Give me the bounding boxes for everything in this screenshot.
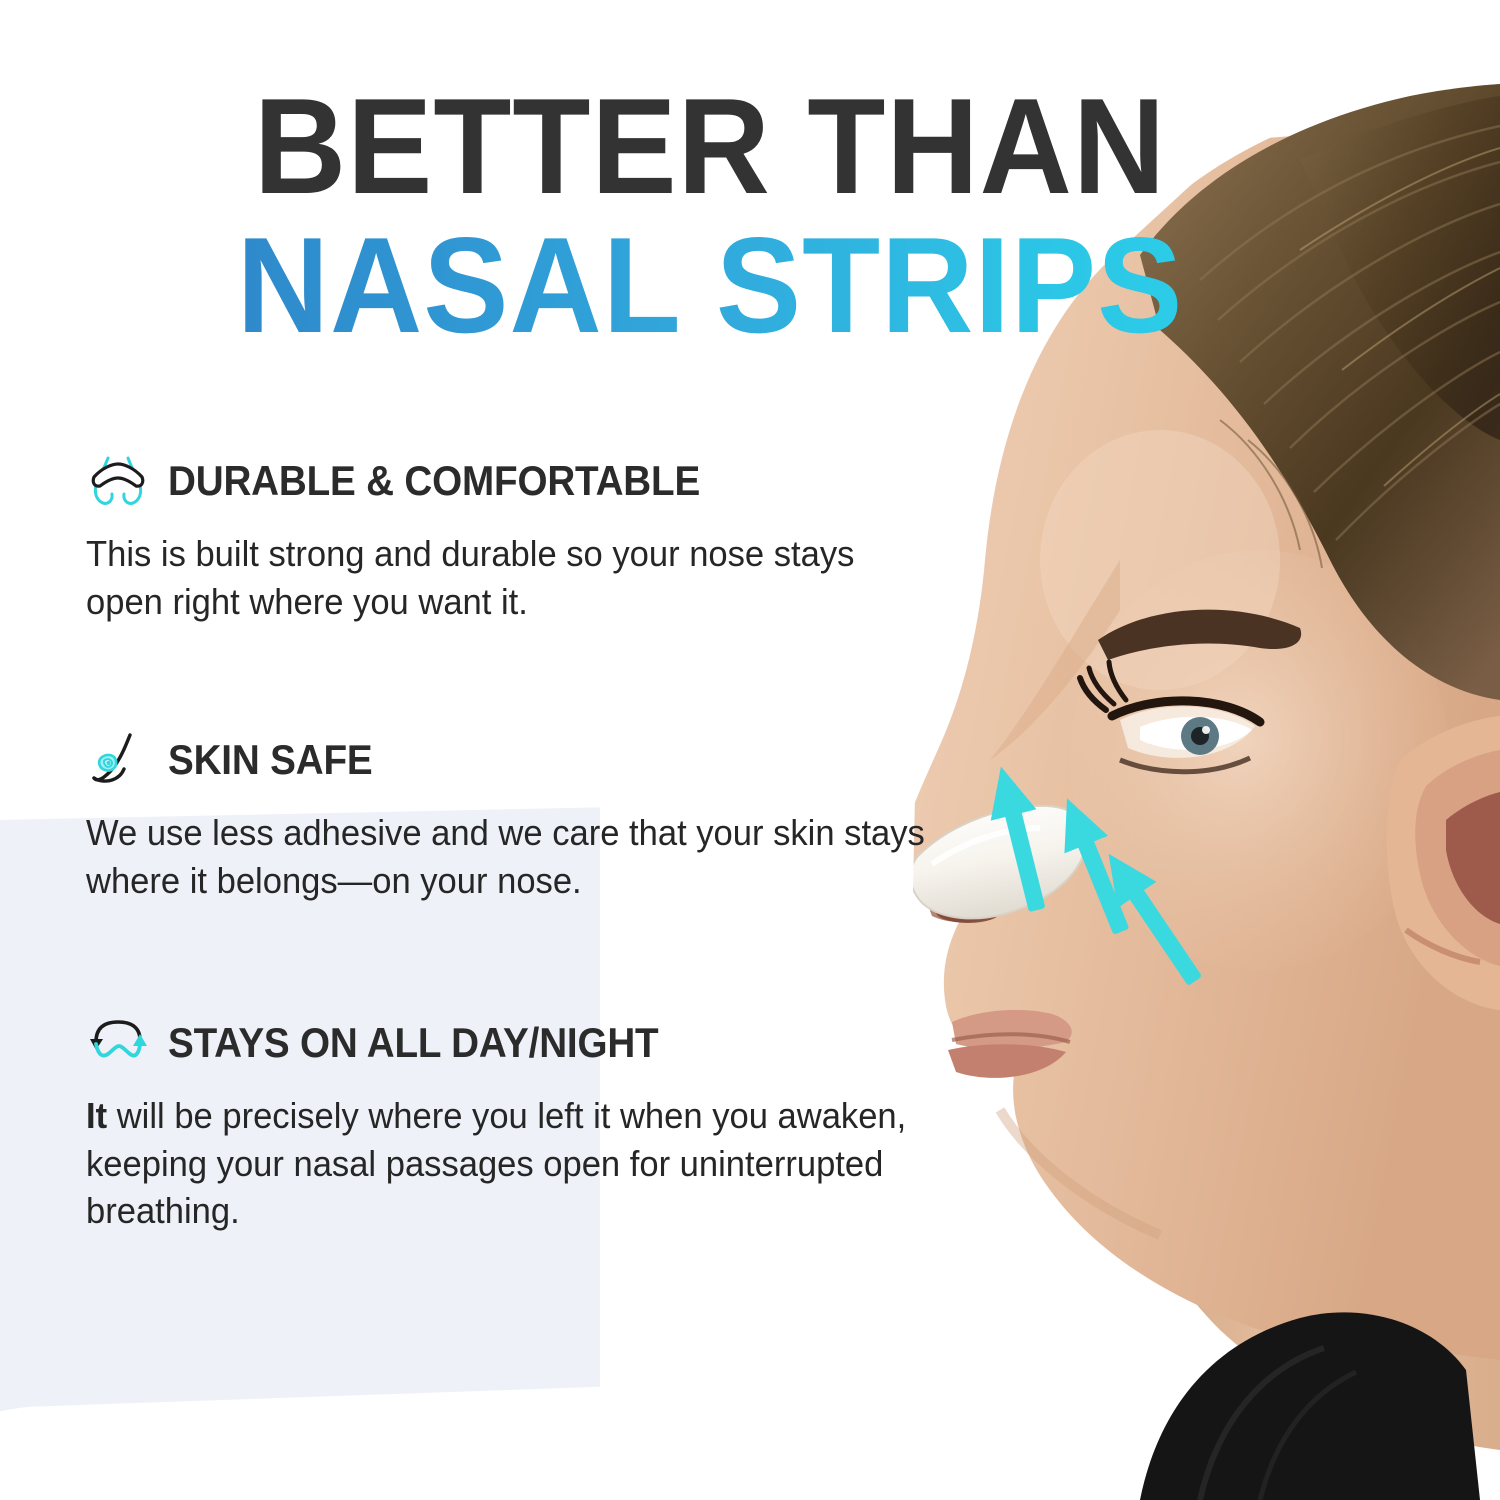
feature-body-lead: It (86, 1095, 107, 1136)
feature-title: SKIN SAFE (168, 736, 372, 784)
feature-list: DURABLE & COMFORTABLE This is built stro… (86, 452, 966, 1235)
feature-title: STAYS ON ALL DAY/NIGHT (168, 1019, 658, 1067)
nose-with-strip-icon (86, 452, 150, 510)
feature-body-rest: will be precisely where you left it when… (86, 1095, 906, 1231)
feature-heading-row: DURABLE & COMFORTABLE (86, 452, 966, 510)
headline: BETTER THAN NASAL STRIPS (0, 82, 1420, 353)
feature-durable-comfortable: DURABLE & COMFORTABLE This is built stro… (86, 452, 966, 625)
feature-body: This is built strong and durable so your… (86, 530, 931, 625)
feature-skin-safe: SKIN SAFE We use less adhesive and we ca… (86, 731, 966, 904)
feature-heading-row: STAYS ON ALL DAY/NIGHT (86, 1014, 966, 1072)
headline-line-1: BETTER THAN (43, 82, 1378, 211)
upper-lip (952, 1010, 1072, 1049)
infographic-canvas: BETTER THAN NASAL STRIPS (0, 0, 1500, 1500)
headline-line-2: NASAL STRIPS (43, 217, 1378, 353)
nose-profile-skin-icon (86, 731, 150, 789)
feature-stays-on-all-day-night: STAYS ON ALL DAY/NIGHT It will be precis… (86, 1014, 966, 1235)
feature-body: It will be precisely where you left it w… (86, 1092, 931, 1235)
strip-cycle-arrows-icon (86, 1014, 150, 1072)
feature-body: We use less adhesive and we care that yo… (86, 809, 931, 904)
feature-heading-row: SKIN SAFE (86, 731, 966, 789)
feature-title: DURABLE & COMFORTABLE (168, 457, 700, 505)
